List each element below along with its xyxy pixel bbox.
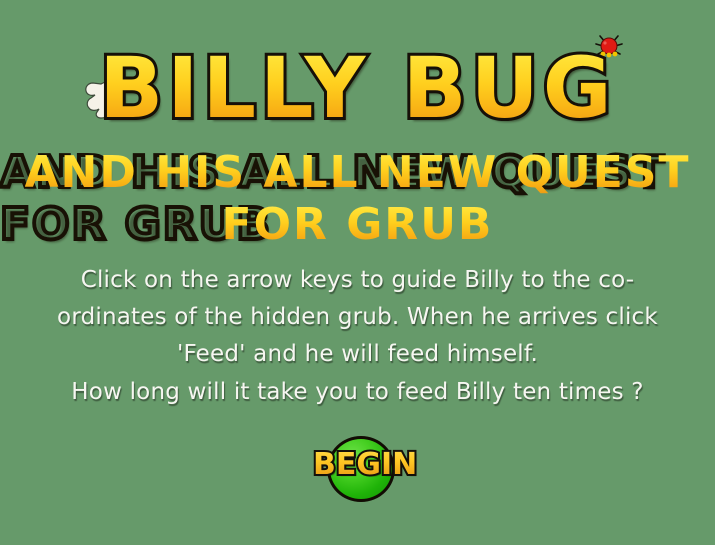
game-title-text: BILLY BUG	[99, 39, 616, 137]
game-title: BILLY BUG BILLY BUG	[0, 44, 715, 132]
game-subtitle-line-1-text: AND HIS ALL NEW QUEST	[25, 147, 691, 198]
instructions-block: Click on the arrow keys to guide Billy t…	[35, 262, 680, 411]
begin-button[interactable]: BEGIN BEGIN	[327, 436, 399, 504]
game-subtitle-line-1: AND HIS ALL NEW QUEST AND HIS ALL NEW QU…	[0, 148, 715, 198]
game-splash-screen: BILLY BUG BILLY BUG AND HIS ALL NEW QUES…	[0, 0, 715, 545]
instructions-paragraph-1: Click on the arrow keys to guide Billy t…	[35, 262, 680, 373]
begin-button-label: BEGIN BEGIN	[313, 449, 413, 481]
game-subtitle-line-2-text: FOR GRUB	[222, 199, 494, 250]
instructions-paragraph-2: How long will it take you to feed Billy …	[35, 374, 680, 411]
game-subtitle-line-2: FOR GRUB FOR GRUB	[0, 200, 715, 250]
game-subtitle: AND HIS ALL NEW QUEST AND HIS ALL NEW QU…	[0, 148, 715, 250]
begin-button-label-text: BEGIN	[313, 447, 417, 482]
